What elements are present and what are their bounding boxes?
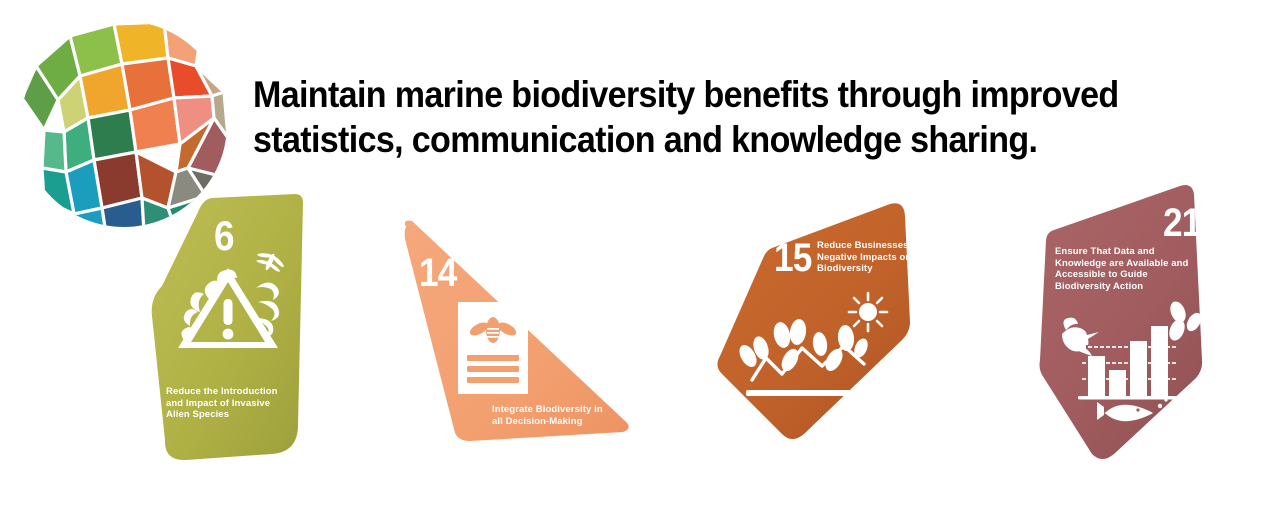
target-15-number: 15 — [774, 238, 811, 278]
target-15-label: Reduce Businesses' Negative Impacts on B… — [817, 240, 932, 275]
target-21-number: 21 — [1163, 203, 1200, 243]
target-21-label: Ensure That Data and Knowledge are Avail… — [1055, 246, 1190, 292]
bar-chart-bird-fish-icon — [1046, 300, 1206, 430]
target-card-6[interactable]: 6 Reduce the Introduction and Impact of … — [140, 190, 320, 475]
target-card-21[interactable]: 21 Ensure That Data and Knowledge are Av… — [1022, 182, 1234, 460]
mosaic-cell — [42, 130, 66, 172]
target-14-number: 14 — [419, 253, 456, 293]
target-card-14[interactable]: 14 Integrate Biodiversity in all Decisio… — [392, 205, 642, 455]
document-with-bee-icon — [454, 300, 532, 396]
page-title: Maintain marine biodiversity benefits th… — [253, 72, 1178, 162]
target-card-15[interactable]: 15 Reduce Businesses' Negative Impacts o… — [712, 188, 930, 450]
target-6-label: Reduce the Introduction and Impact of In… — [166, 386, 286, 421]
leaves-chart-sun-icon — [724, 288, 920, 408]
target-6-number: 6 — [214, 215, 234, 257]
warning-triangle-invasive-species-icon — [170, 252, 290, 357]
target-14-label: Integrate Biodiversity in all Decision-M… — [492, 404, 612, 427]
poster-canvas: Maintain marine biodiversity benefits th… — [0, 0, 1280, 528]
